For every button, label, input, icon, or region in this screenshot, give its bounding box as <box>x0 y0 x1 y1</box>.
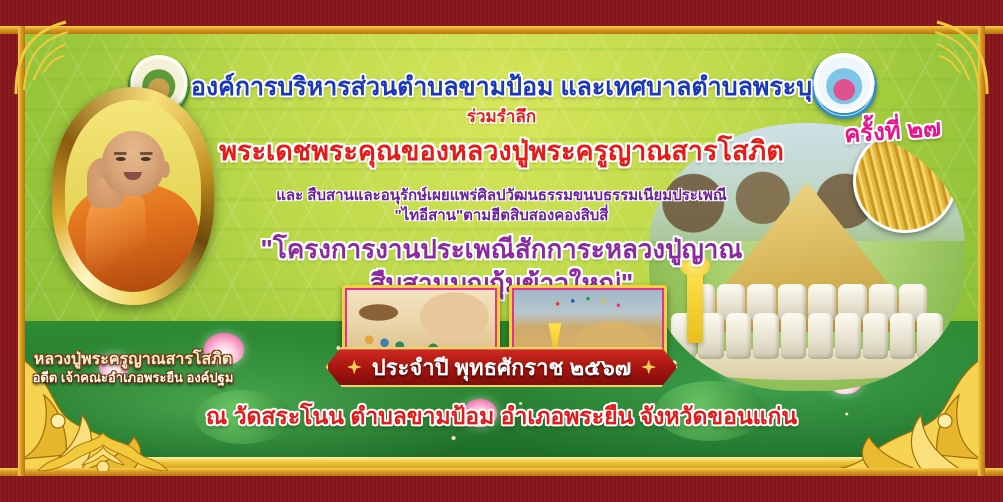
honoree-line: พระเดชพระคุณของหลวงปู่พระครูญาณสารโสภิต <box>22 129 981 172</box>
floret-icon <box>347 360 362 375</box>
portrait-caption-title: อดีต เจ้าคณะอำเภอพระยืน องค์ปฐม <box>26 367 240 388</box>
edition-badge: ครั้งที่ ๒๗ <box>843 108 943 154</box>
organizers-title: องค์การบริหารส่วนตำบลขามป้อม และเทศบาลตำ… <box>22 67 981 107</box>
commemorate-label: ร่วมรำลึก <box>22 103 981 130</box>
year-ribbon: ประจำปี พุทธศักราช ๒๕๖๗ <box>326 347 678 387</box>
event-banner: หลวงปู่พระครูญาณสารโสภิต อดีต เจ้าคณะอำเ… <box>0 0 1003 502</box>
top-gold-rail <box>0 26 1003 34</box>
year-text: ประจำปี พุทธศักราช ๒๕๖๗ <box>372 350 632 385</box>
purpose-line-2: "ไทอีสาน"ตามฮีตสิบสองคองสิบสี่ <box>22 203 981 227</box>
banner-stage: หลวงปู่พระครูญาณสารโสภิต อดีต เจ้าคณะอำเ… <box>22 31 981 471</box>
rice-sack-row-lower <box>671 313 943 359</box>
project-title-line-2: สืบสานบุญกุ้มข้าวใหญ่" <box>22 263 981 304</box>
floret-icon <box>641 360 656 375</box>
corner-filigree-ornament <box>907 14 993 100</box>
thai-gold-flame-ornament <box>36 427 170 471</box>
corner-filigree-ornament <box>10 14 96 100</box>
